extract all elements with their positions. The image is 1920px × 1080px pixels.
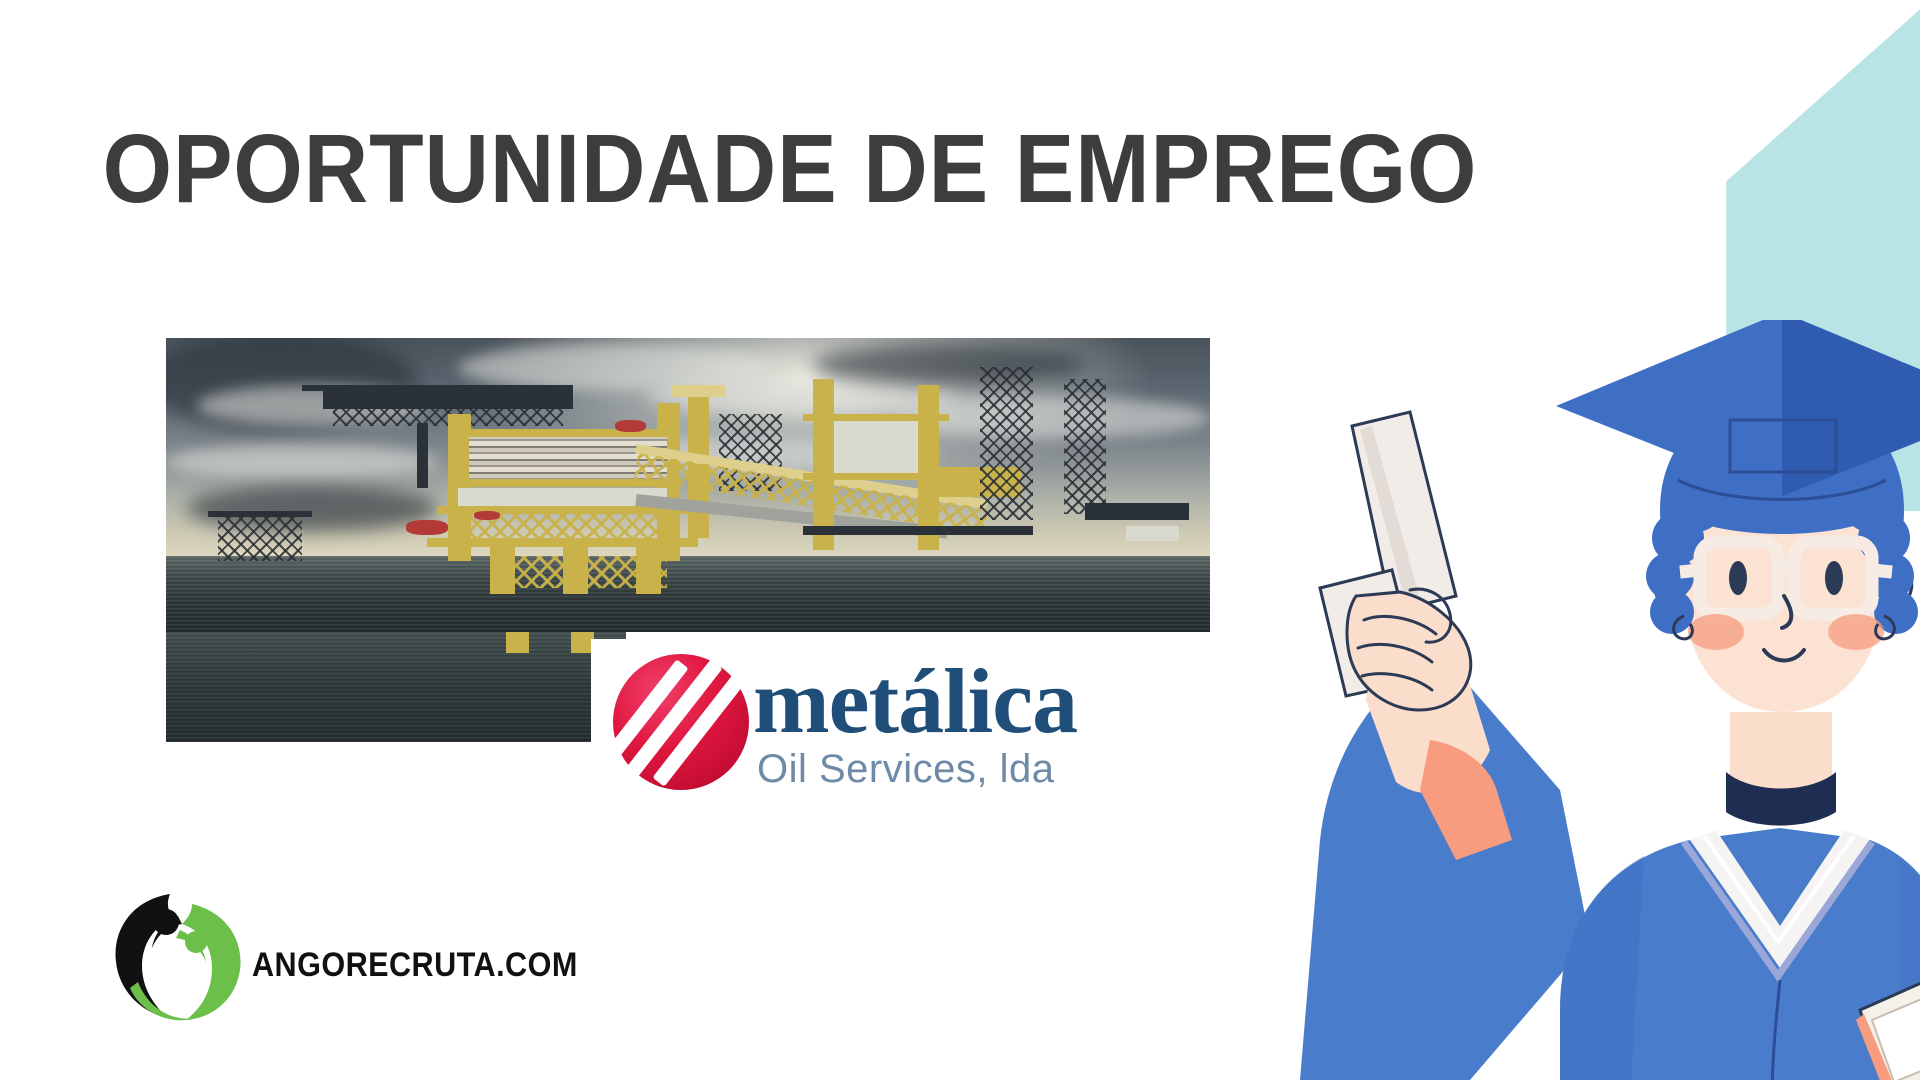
rig-derrick-top [672,385,724,397]
rig-deck [427,538,698,547]
rig-handrail [302,385,573,391]
rig-deck [803,526,1033,535]
lifeboat [615,420,646,432]
rig-column [813,379,834,550]
graduate-with-diploma-illustration [1260,320,1920,1080]
cloud [166,444,437,479]
cloud [813,344,1084,385]
lifeboat [474,511,500,520]
rig-module-dark [1085,503,1189,521]
rig-module [834,420,918,473]
rig-lattice-tower [980,367,1032,520]
lifeboat [406,520,448,535]
poster-canvas: OPORTUNIDADE DE EMPREGO [0,0,1920,1080]
rig-column [918,385,939,550]
company-tagline: Oil Services, lda [757,747,1054,792]
rig-deck [803,473,949,480]
rig-deck [803,414,949,421]
rig-lattice-tower [1064,379,1106,514]
angorecruta-logo-text[interactable]: ANGORECRUTA.COM [252,946,578,985]
support-vessel [1126,526,1178,541]
rig-jacket [218,514,302,561]
rig-jacket-top [208,511,312,517]
eye-left [1729,561,1747,595]
eye-right [1825,561,1843,595]
offshore-oil-rig-photo [166,338,1210,632]
graduation-cap [1556,320,1920,534]
page-title: OPORTUNIDADE DE EMPREGO [63,120,1517,217]
sea [166,556,1210,632]
rig-leg-bracing [490,556,667,588]
cheek-left [1688,614,1744,650]
rig-column [417,423,428,488]
metalica-circle-mark [613,654,749,790]
company-wordmark: metálica [753,653,1077,750]
angorecruta-logo-icon[interactable] [108,886,248,1026]
company-logo: metálica Oil Services, lda [591,639,1168,813]
